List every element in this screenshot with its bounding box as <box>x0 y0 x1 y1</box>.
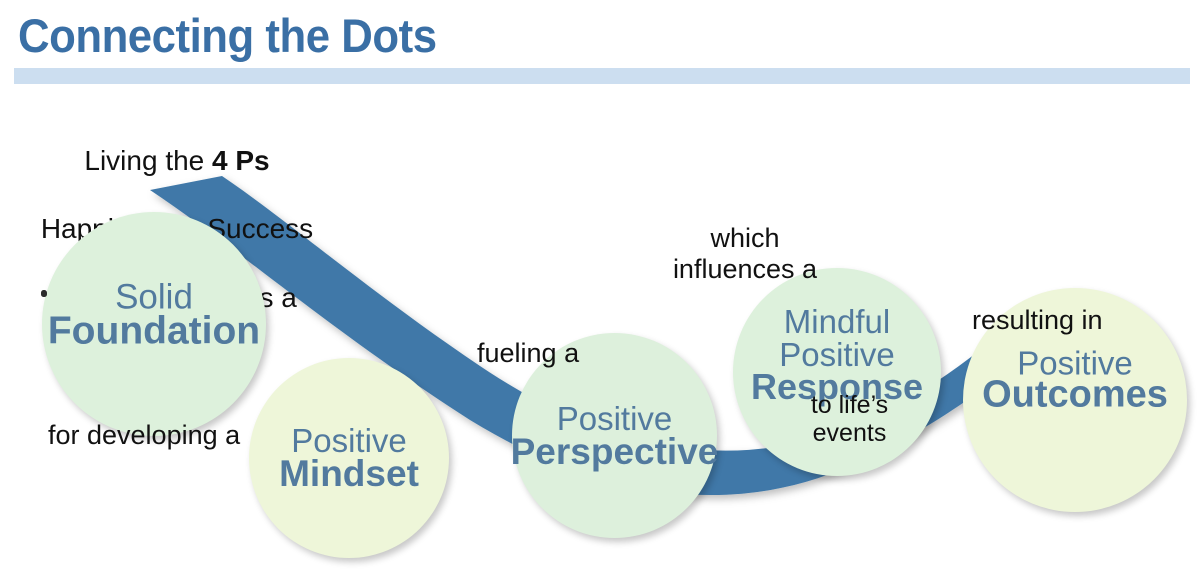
edge-marker-dot <box>41 290 47 297</box>
node-positive-mindset-label: Positive Mindset <box>279 424 419 492</box>
node-positive-perspective-label: Positive Perspective <box>511 402 719 470</box>
annotation-fueling-a: fueling a <box>477 338 579 369</box>
intro-4ps-emphasis: 4 Ps <box>212 145 270 176</box>
node-label-bold: Outcomes <box>982 375 1168 413</box>
node-positive-mindset[interactable]: Positive Mindset <box>249 358 449 558</box>
annotation-for-developing-a: for developing a <box>48 420 240 451</box>
node-label-bold: Perspective <box>511 433 719 470</box>
node-label-bold: Foundation <box>48 312 260 351</box>
node-positive-outcomes-label: Positive Outcomes <box>982 346 1168 413</box>
intro-line-1: Living the 4 Ps <box>84 145 269 176</box>
node-label-thin: Mindful <box>751 305 923 338</box>
node-label-bold: Mindset <box>279 455 419 492</box>
annotation-resulting-in: resulting in <box>972 305 1103 336</box>
node-solid-foundation-label: Solid Foundation <box>48 280 260 351</box>
annotation-to-lifes-events: to life’s events <box>792 391 907 447</box>
annotation-which-influences-a: which influences a <box>650 223 840 285</box>
slide-canvas: Connecting the Dots Living the 4 Ps Happ… <box>0 0 1200 583</box>
node-solid-foundation[interactable]: Solid Foundation <box>42 212 266 436</box>
